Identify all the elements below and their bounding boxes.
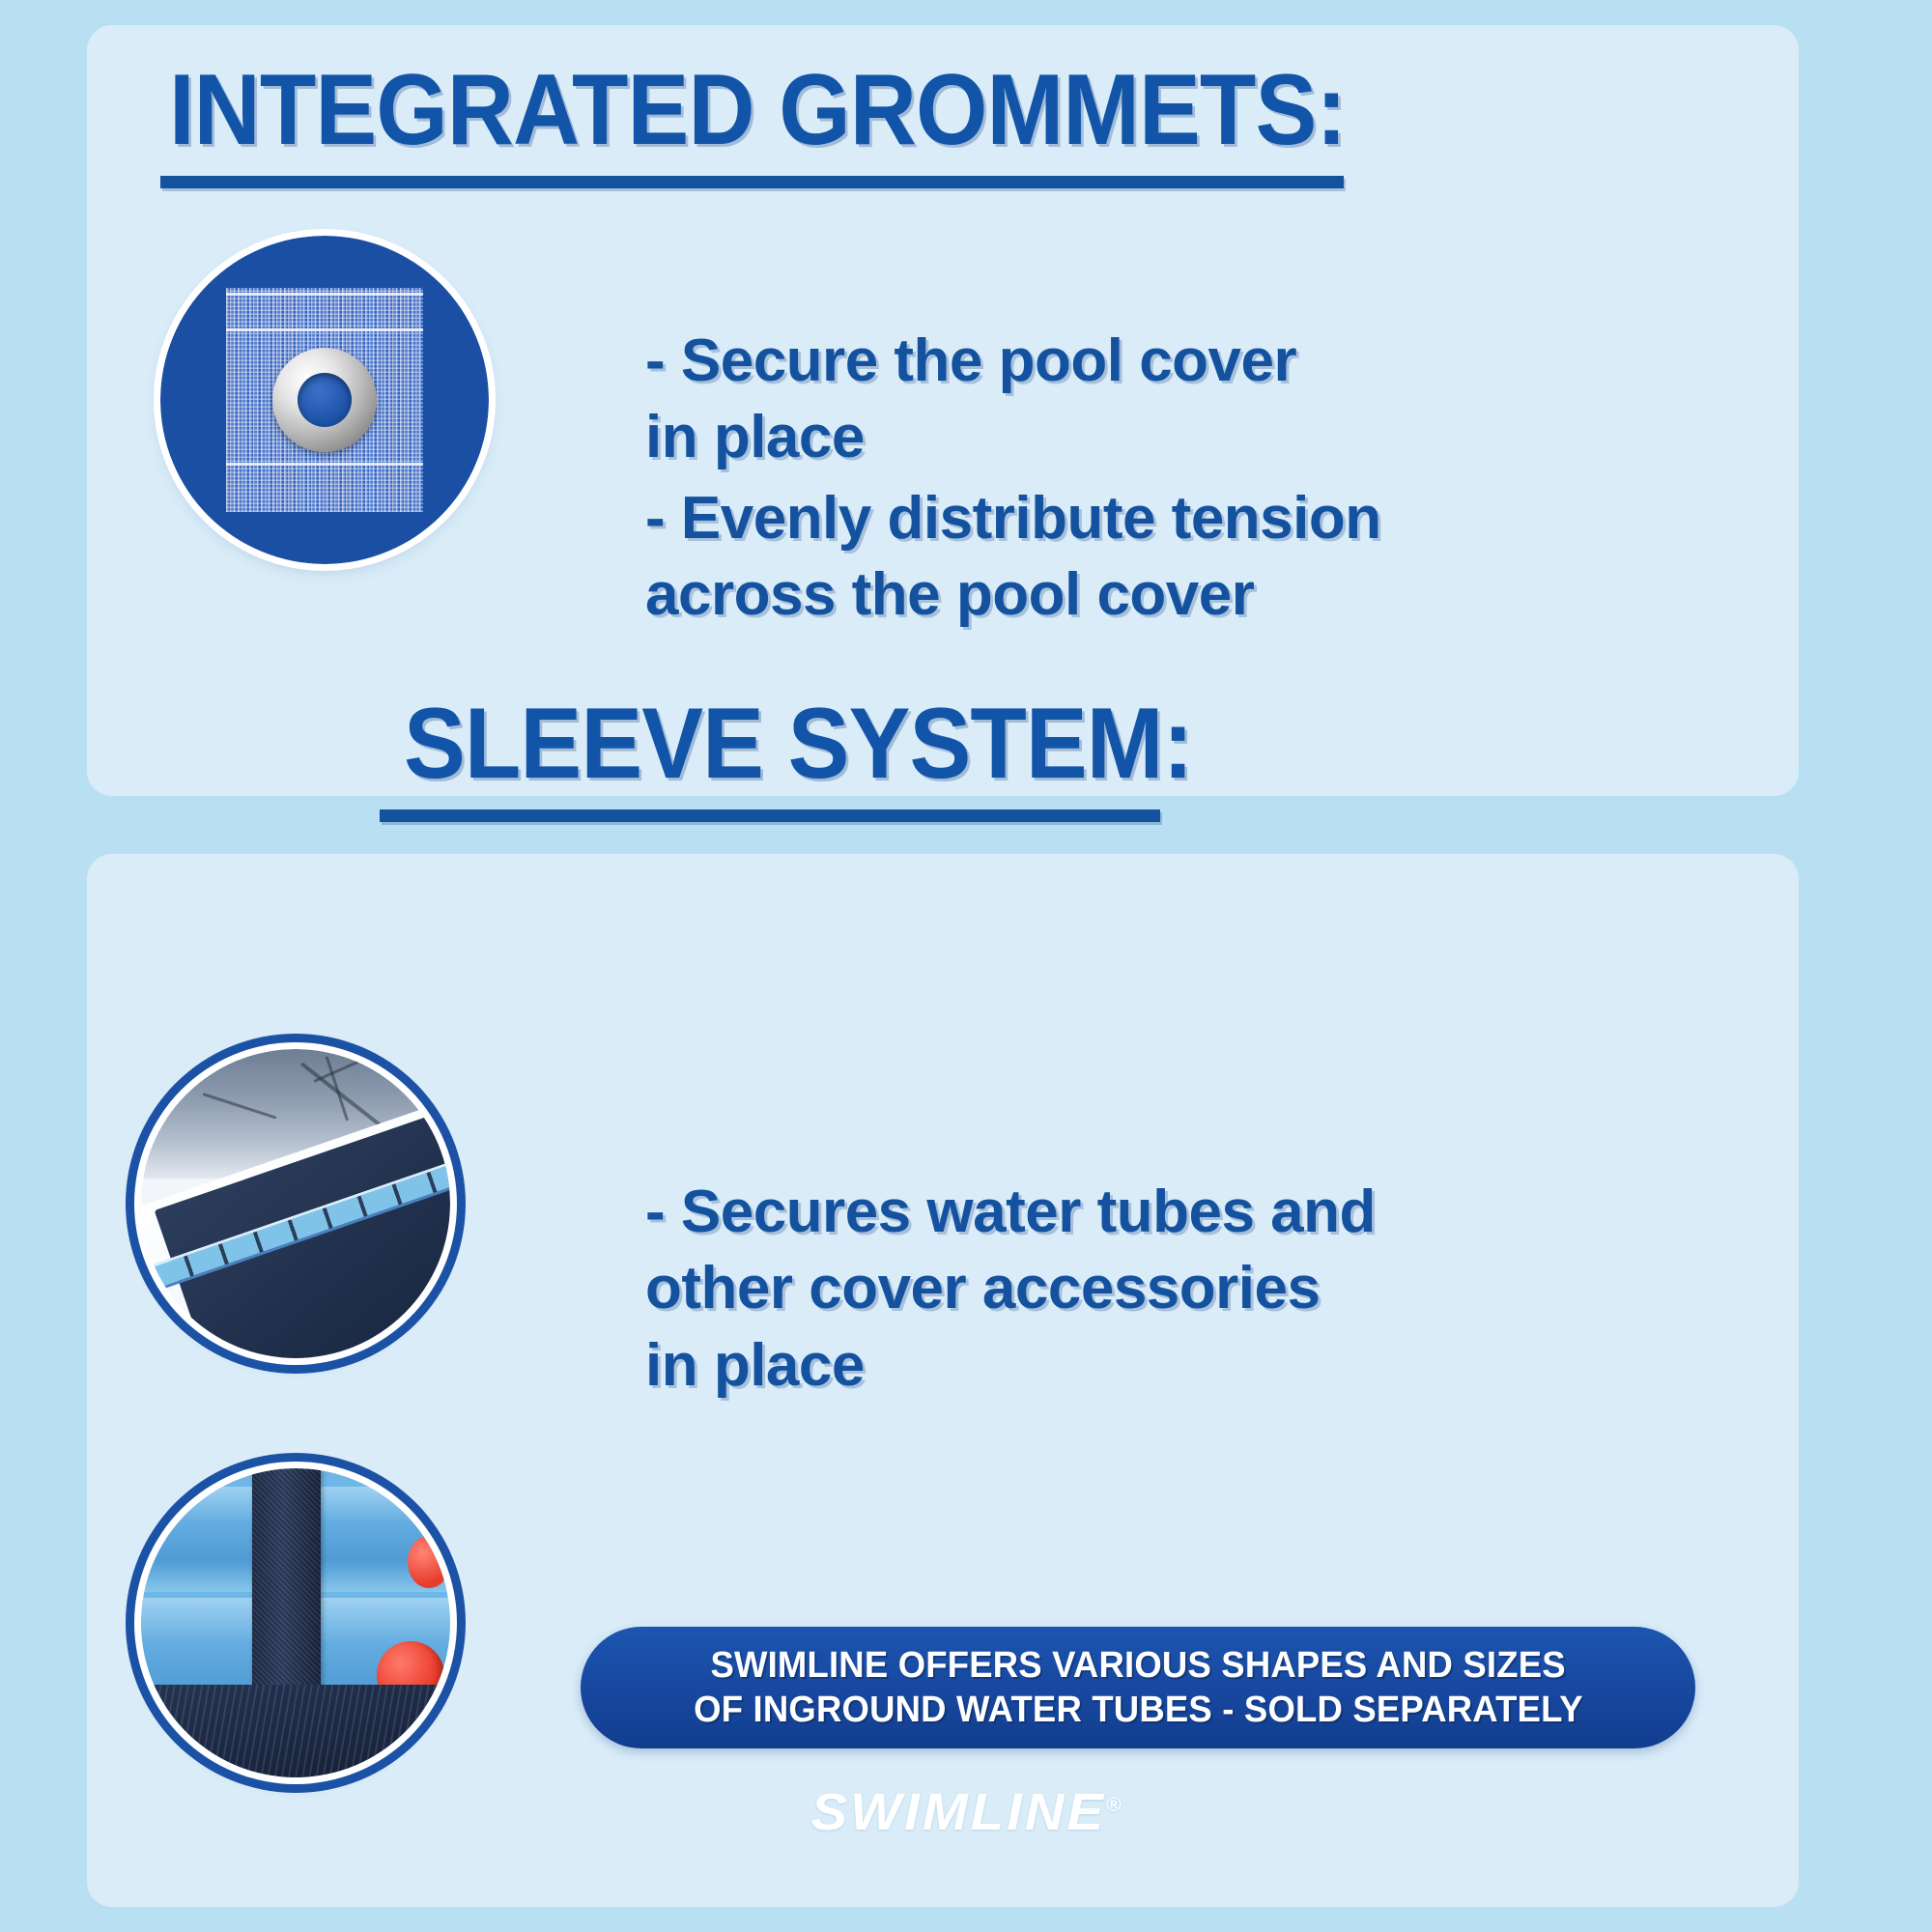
grommet-eyelet-icon (272, 348, 377, 452)
title-underline-sleeve (380, 810, 1160, 822)
brand-logo: SWIMLINE® (0, 1782, 1932, 1842)
page-title-sleeve: SLEEVE SYSTEM: (404, 694, 1193, 794)
title-underline-grommets (160, 176, 1344, 188)
list-item: - Secures water tubes and other cover ac… (645, 1174, 1727, 1404)
list-item: - Secure the pool cover in place (645, 323, 1727, 476)
cover-fabric-below (141, 1685, 450, 1777)
page-title-grommets: INTEGRATED GROMMETS: (169, 60, 1346, 160)
bullet-list-grommets: - Secure the pool cover in place - Evenl… (645, 323, 1727, 633)
cta-banner-line-1: SWIMLINE OFFERS VARIOUS SHAPES AND SIZES (710, 1643, 1565, 1688)
winter-pool-photo-circle (141, 1049, 450, 1358)
bullet-list-sleeve: - Secures water tubes and other cover ac… (645, 1174, 1727, 1404)
cta-banner-line-2: OF INGROUND WATER TUBES - SOLD SEPARATEL… (694, 1688, 1583, 1732)
tube-cap-small (408, 1536, 450, 1588)
cta-banner: SWIMLINE OFFERS VARIOUS SHAPES AND SIZES… (581, 1627, 1695, 1748)
infographic-page: INTEGRATED GROMMETS: - Secure the pool c… (0, 0, 1932, 1932)
water-tube-photo-inner (141, 1468, 450, 1777)
brand-logo-text: SWIMLINE (810, 1783, 1106, 1841)
water-tube-photo-circle (141, 1468, 450, 1777)
registered-trademark-icon: ® (1106, 1795, 1121, 1816)
grommet-photo-circle (160, 236, 489, 564)
winter-pool-photo-inner (141, 1049, 450, 1358)
grommet-photo-inner (160, 236, 489, 564)
list-item: - Evenly distribute tension across the p… (645, 480, 1727, 634)
